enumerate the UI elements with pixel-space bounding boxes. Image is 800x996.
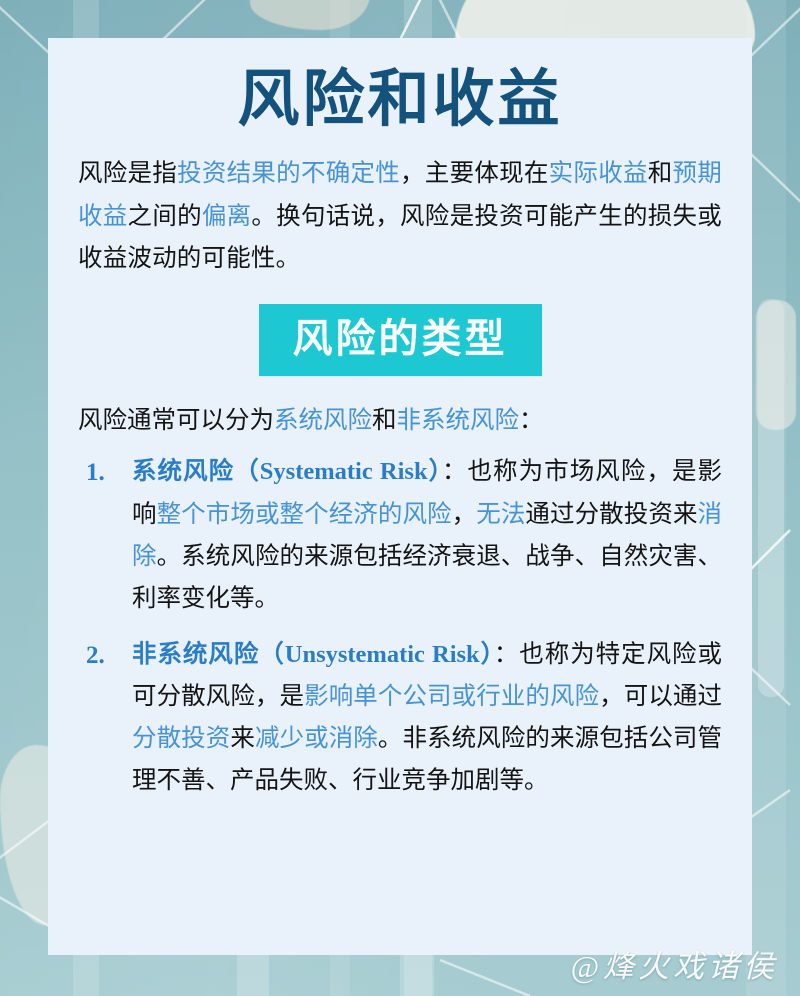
plain-text: ，主要体现在 <box>400 160 549 187</box>
plain-text: 和 <box>648 160 673 187</box>
intro-paragraph: 风险是指投资结果的不确定性，主要体现在实际收益和预期收益之间的偏离。换句话说，风… <box>78 153 722 279</box>
plain-text: 风险通常可以分为 <box>78 407 274 434</box>
highlighted-phrase: 系统风险 <box>274 407 372 434</box>
risk-term-cn: 系统风险 <box>132 458 234 485</box>
plain-text: 来 <box>230 725 255 752</box>
highlighted-phrase: 无法 <box>476 501 525 528</box>
risk-term-cn: 非系统风险 <box>132 641 259 668</box>
risk-term-en: （Systematic Risk） <box>234 458 442 485</box>
section-banner-wrap: 风险的类型 <box>78 304 722 376</box>
highlighted-phrase: 实际收益 <box>549 160 648 187</box>
plain-text: 。系统风险的来源包括经济衰退、战争、自然灾害、利率变化等。 <box>132 543 722 612</box>
highlighted-phrase: 非系统风险 <box>397 407 520 434</box>
list-item: 系统风险（Systematic Risk）：也称为市场风险，是影响整个市场或整个… <box>78 451 722 620</box>
highlighted-phrase: 整个市场或整个经济的风险 <box>157 501 452 528</box>
list-lead-paragraph: 风险通常可以分为系统风险和非系统风险： <box>78 400 722 442</box>
plain-text: 和 <box>372 407 397 434</box>
highlighted-phrase: 偏离 <box>202 203 252 230</box>
plain-text: ， <box>452 501 477 528</box>
highlighted-phrase: 影响单个公司或行业的风险 <box>304 683 599 710</box>
plain-text: ： <box>519 407 544 434</box>
highlighted-phrase: 分散投资 <box>132 725 230 752</box>
page-title: 风险和收益 <box>78 66 722 135</box>
plain-text: ，可以通过 <box>599 683 722 710</box>
highlighted-phrase: 减少或消除 <box>255 725 378 752</box>
section-banner: 风险的类型 <box>259 304 542 376</box>
highlighted-phrase: 投资结果的不确定性 <box>177 160 400 187</box>
list-item: 非系统风险（Unsystematic Risk）：也称为特定风险或可分散风险，是… <box>78 634 722 803</box>
plain-text: 之间的 <box>128 203 202 230</box>
plain-text: 通过分散投资来 <box>525 501 697 528</box>
plain-text: 风险是指 <box>78 160 177 187</box>
risk-term-en: （Unsystematic Risk） <box>259 641 494 668</box>
risk-type-list: 系统风险（Systematic Risk）：也称为市场风险，是影响整个市场或整个… <box>78 451 722 802</box>
watermark: @烽火戏诸侯 <box>570 941 778 986</box>
content-card: 风险和收益 风险是指投资结果的不确定性，主要体现在实际收益和预期收益之间的偏离。… <box>48 38 752 955</box>
